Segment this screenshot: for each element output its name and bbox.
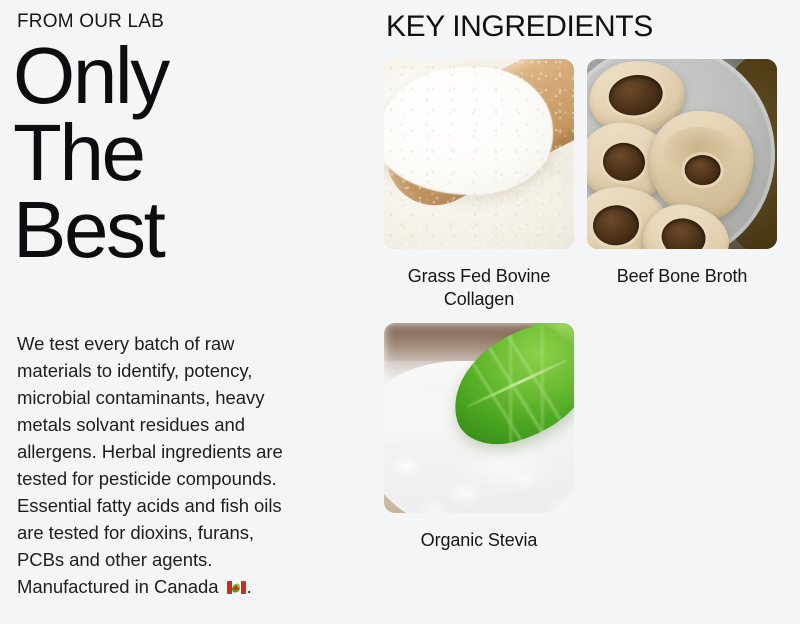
marrow-center	[592, 204, 641, 247]
ingredient-label: Grass Fed Bovine Collagen	[384, 265, 574, 311]
bone-broth-photo	[587, 59, 777, 249]
ingredient-card-bone-broth[interactable]: Beef Bone Broth	[587, 59, 777, 311]
collagen-photo	[384, 59, 574, 249]
stevia-photo	[384, 323, 574, 513]
description-trailing-text: .	[247, 576, 252, 597]
lab-ingredients-panel: FROM OUR LAB Only The Best We test every…	[0, 0, 800, 624]
headline-line-1: Only	[13, 38, 372, 115]
marrow-center	[601, 141, 647, 183]
lab-testing-description: We test every batch of raw materials to …	[17, 330, 295, 600]
headline-line-2: The	[13, 115, 372, 192]
headline-line-3: Best	[13, 192, 372, 269]
marrow-center	[684, 154, 722, 186]
marrow-bones-image	[587, 59, 777, 249]
canada-flag-icon	[227, 581, 246, 594]
marrow-center	[606, 72, 665, 119]
stevia-powder-image	[384, 323, 574, 513]
ingredient-grid: Grass Fed Bovine Collagen Beef Bone Bro	[384, 59, 779, 552]
marrow-center	[659, 215, 709, 249]
right-column: KEY INGREDIENTS Grass Fed Bovine Collage…	[372, 0, 800, 552]
collagen-powder-image	[384, 59, 574, 249]
description-text: We test every batch of raw materials to …	[17, 333, 283, 597]
page-title: Only The Best	[13, 38, 372, 268]
section-title: KEY INGREDIENTS	[386, 8, 800, 46]
left-column: FROM OUR LAB Only The Best We test every…	[0, 0, 372, 600]
ingredient-card-stevia[interactable]: Organic Stevia	[384, 323, 574, 552]
ingredient-card-collagen[interactable]: Grass Fed Bovine Collagen	[384, 59, 574, 311]
ingredient-label: Beef Bone Broth	[587, 265, 777, 288]
ingredient-label: Organic Stevia	[384, 529, 574, 552]
powder-grain-texture	[384, 59, 574, 249]
